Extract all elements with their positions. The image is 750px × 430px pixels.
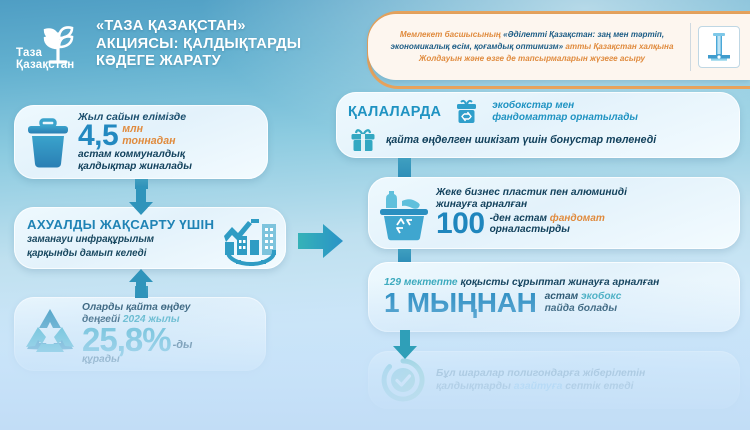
result-line-2: қалдықтарды азайтуға септік етеді bbox=[436, 380, 645, 393]
school-side-line-1: астам экобокс bbox=[545, 291, 622, 303]
waste-line-3a: астам коммуналдық bbox=[78, 149, 258, 161]
cities-sub-line-1: экобокстар мен bbox=[492, 100, 638, 112]
arrow-down-icon bbox=[128, 186, 154, 216]
check-circle-icon bbox=[380, 357, 426, 403]
fandomat-side-prefix: -ден астам bbox=[490, 213, 550, 224]
waste-line-3b: қалдықтар жиналады bbox=[78, 161, 258, 173]
card-annual-waste: Жыл сайын елімізде 4,5 млн тоннадан аста… bbox=[14, 105, 268, 179]
gift-box-icon bbox=[350, 128, 376, 152]
improve-heading: АХУАЛДЫ ЖАҚСАРТУ ҮШІН bbox=[27, 217, 224, 232]
school-side-text: астам экобокс пайда болады bbox=[545, 291, 622, 315]
title-line-1: «ТАЗА ҚАЗАҚСТАН» bbox=[96, 18, 301, 36]
waste-unit: млн тоннадан bbox=[122, 124, 175, 147]
card-schools: 129 мектепте қоқысты сұрыптап жинауға ар… bbox=[368, 262, 740, 332]
ecobox-icon bbox=[455, 99, 478, 125]
school-side-prefix: астам bbox=[545, 291, 581, 302]
fandomat-side-highlight: фандомат bbox=[550, 213, 605, 224]
fandomat-text: Жеке бизнес пластик пен алюминиді жинауғ… bbox=[436, 187, 730, 238]
arrow-up-icon bbox=[128, 268, 154, 298]
brand-line-2: Қазақстан bbox=[16, 60, 74, 72]
waste-text: Жыл сайын елімізде 4,5 млн тоннадан аста… bbox=[78, 112, 258, 173]
recycle-number: 25,8% bbox=[82, 325, 171, 355]
quote-text: Мемлекет басшысының «Әділетті Қазақстан:… bbox=[382, 29, 690, 65]
card-infrastructure: АХУАЛДЫ ЖАҚСАРТУ ҮШІН заманауи инфрақұры… bbox=[14, 207, 286, 269]
fandomat-number: 100 bbox=[436, 210, 485, 239]
improve-text: АХУАЛДЫ ЖАҚСАРТУ ҮШІН заманауи инфрақұры… bbox=[27, 217, 224, 260]
improve-sub-1: заманауи инфрақұрылым bbox=[27, 234, 224, 246]
industry-growth-icon bbox=[220, 210, 282, 266]
cities-subtitle: экобокстар мен фандоматтар орнатылады bbox=[492, 100, 638, 124]
divider bbox=[690, 23, 691, 71]
monument-tower-icon bbox=[698, 26, 740, 68]
card-recycling-rate: Оларды қайта өңдеу деңгейі 2024 жылы 25,… bbox=[14, 297, 266, 371]
page-title: «ТАЗА ҚАЗАҚСТАН» АКЦИЯСЫ: ҚАЛДЫҚТАРДЫ КӘ… bbox=[96, 18, 301, 71]
brand-block: Таза Қазақстан «ТАЗА ҚАЗАҚСТАН» АКЦИЯСЫ:… bbox=[14, 18, 301, 71]
title-line-2: АКЦИЯСЫ: ҚАЛДЫҚТАРДЫ bbox=[96, 36, 301, 54]
waste-unit-line-2: тоннадан bbox=[122, 136, 175, 147]
recycle-figure: 25,8% -ды bbox=[82, 325, 256, 355]
school-side-line-2: пайда болады bbox=[545, 303, 622, 315]
result-line-2c: септік етеді bbox=[562, 381, 633, 392]
connector-cities-fandomat bbox=[398, 158, 411, 177]
infographic-canvas: Таза Қазақстан «ТАЗА ҚАЗАҚСТАН» АКЦИЯСЫ:… bbox=[0, 0, 750, 430]
recycle-line-1a: Оларды қайта өңдеу bbox=[82, 302, 256, 314]
cities-bonus-text: қайта өңделген шикізат үшін бонустар төл… bbox=[386, 134, 656, 146]
brand-line-1: Таза bbox=[16, 48, 74, 60]
result-highlight: азайтуға bbox=[514, 381, 563, 392]
plastic-recycling-bin-icon bbox=[376, 185, 432, 241]
trash-bin-icon bbox=[22, 115, 74, 169]
recycling-arrows-icon bbox=[20, 305, 80, 363]
recycle-suffix: -ды bbox=[173, 339, 193, 355]
recycle-text: Оларды қайта өңдеу деңгейі 2024 жылы 25,… bbox=[82, 302, 256, 365]
fandomat-line-1: Жеке бизнес пластик пен алюминиді bbox=[436, 187, 730, 199]
header: Таза Қазақстан «ТАЗА ҚАЗАҚСТАН» АКЦИЯСЫ:… bbox=[0, 0, 750, 88]
card-fandomat: Жеке бизнес пластик пен алюминиді жинауғ… bbox=[368, 177, 740, 249]
waste-figure: 4,5 млн тоннадан bbox=[78, 122, 258, 151]
arrow-down-icon-result bbox=[392, 330, 418, 360]
plant-sprout-icon: Таза Қазақстан bbox=[14, 18, 90, 70]
brand-text: Таза Қазақстан bbox=[16, 48, 74, 71]
card-result: Бұл шаралар полигондарға жіберілетін қал… bbox=[368, 351, 740, 409]
waste-number: 4,5 bbox=[78, 122, 118, 151]
cities-top-row: ҚАЛАЛАРДА экобокстар мен фандоматтар орн… bbox=[348, 99, 730, 125]
cities-heading: ҚАЛАЛАРДА bbox=[348, 104, 441, 120]
presidential-address-banner: Мемлекет басшысының «Әділетті Қазақстан:… bbox=[368, 14, 750, 80]
school-side-highlight: экобокс bbox=[581, 291, 621, 302]
title-line-3: КӘДЕГЕ ЖАРАТУ bbox=[96, 53, 301, 71]
card-cities: ҚАЛАЛАРДА экобокстар мен фандоматтар орн… bbox=[336, 92, 740, 158]
result-line-2a: қалдықтарды bbox=[436, 381, 514, 392]
cities-sub-line-2: фандоматтар орнатылады bbox=[492, 112, 638, 124]
result-line-1: Бұл шаралар полигондарға жіберілетін bbox=[436, 367, 645, 380]
fandomat-side-line-2: орналастырды bbox=[490, 224, 605, 236]
fandomat-side-line-1: -ден астам фандомат bbox=[490, 213, 605, 225]
fandomat-figure: 100 -ден астам фандомат орналастырды bbox=[436, 210, 730, 239]
fandomat-side-text: -ден астам фандомат орналастырды bbox=[490, 213, 605, 236]
result-text: Бұл шаралар полигондарға жіберілетін қал… bbox=[436, 367, 645, 393]
school-figure: 1 МЫҢНАН астам экобокс пайда болады bbox=[384, 289, 730, 317]
quote-segment-1: Мемлекет басшысының bbox=[400, 30, 503, 39]
improve-sub-2: қарқынды дамып келеді bbox=[27, 248, 224, 260]
connector-fandomat-school bbox=[398, 249, 411, 262]
arrow-right-icon bbox=[298, 222, 342, 256]
school-number: 1 МЫҢНАН bbox=[384, 289, 537, 317]
cities-bonus-row: қайта өңделген шикізат үшін бонустар төл… bbox=[348, 128, 730, 152]
